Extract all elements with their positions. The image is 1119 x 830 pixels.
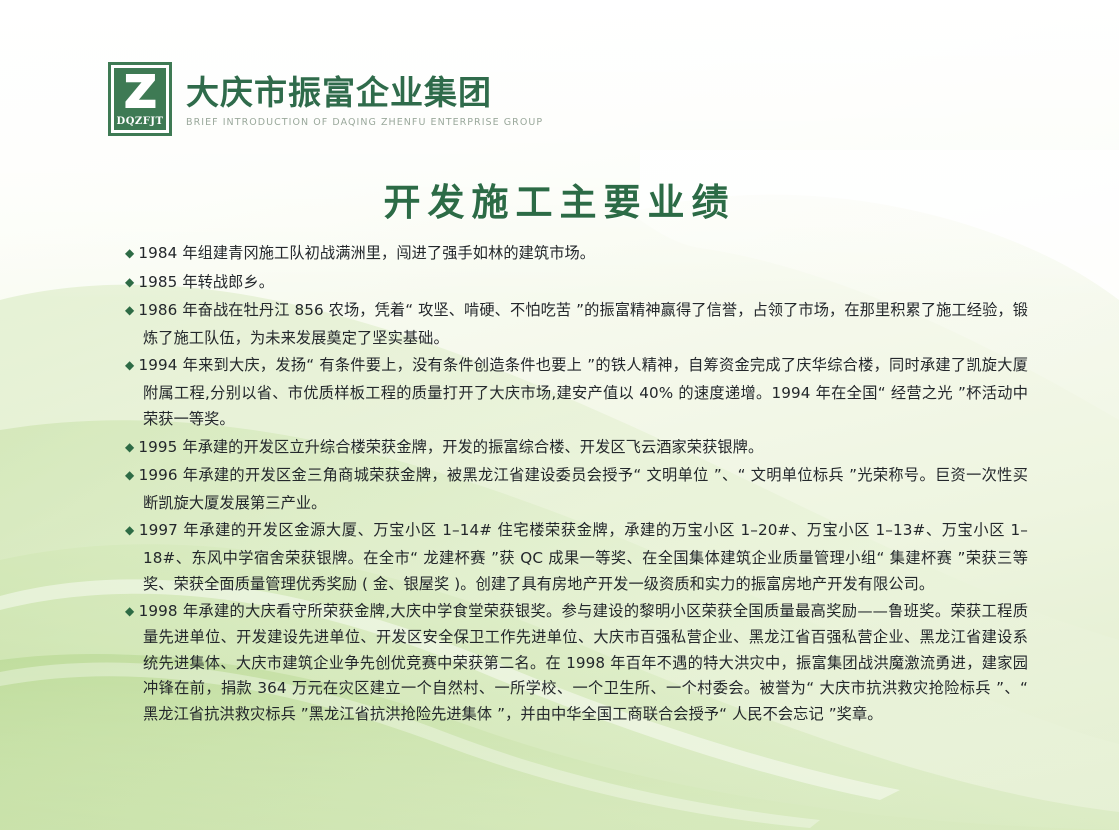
paragraph-1994: ◆1994 年来到大庆，发扬“ 有条件要上，没有条件创造条件也要上 ”的铁人精神…	[103, 352, 1028, 433]
paragraph-text: 1985 年转战郎乡。	[138, 273, 274, 291]
logo-abbreviation: DQZFJT	[117, 116, 164, 127]
diamond-bullet-icon: ◆	[125, 246, 134, 260]
body-content: ◆1984 年组建青冈施工队初战满洲里，闯进了强手如林的建筑市场。 ◆1985 …	[103, 240, 1028, 728]
paragraph-1997: ◆1997 年承建的开发区金源大厦、万宝小区 1–14# 住宅楼荣获金牌，承建的…	[103, 517, 1028, 598]
paragraph-1986: ◆1986 年奋战在牡丹江 856 农场，凭着“ 攻坚、啃硬、不怕吃苦 ”的振富…	[103, 297, 1028, 351]
paragraph-text: 1995 年承建的开发区立升综合楼荣获金牌，开发的振富综合楼、开发区飞云酒家荣获…	[138, 438, 763, 456]
diamond-bullet-icon: ◆	[125, 468, 135, 482]
paragraph-1985: ◆1985 年转战郎乡。	[103, 269, 1028, 297]
diamond-bullet-icon: ◆	[125, 440, 134, 454]
page-title: 开发施工主要业绩	[0, 172, 1119, 226]
paragraph-1998: ◆1998 年承建的大庆看守所荣获金牌,大庆中学食堂荣获银奖。参与建设的黎明小区…	[103, 599, 1028, 728]
slide-page: Z DQZFJT 大庆市振富企业集团 BRIEF INTRODUCTION OF…	[0, 0, 1119, 830]
brand-name-chinese: 大庆市振富企业集团	[186, 74, 543, 112]
paragraph-1996: ◆1996 年承建的开发区金三角商城荣获金牌，被黑龙江省建设委员会授予“ 文明单…	[103, 462, 1028, 516]
paragraph-text: 1986 年奋战在牡丹江 856 农场，凭着“ 攻坚、啃硬、不怕吃苦 ”的振富精…	[138, 301, 1028, 347]
brand-text-block: 大庆市振富企业集团 BRIEF INTRODUCTION OF DAQING Z…	[186, 62, 543, 128]
paragraph-text: 1994 年来到大庆，发扬“ 有条件要上，没有条件创造条件也要上 ”的铁人精神，…	[139, 356, 1029, 428]
paragraph-1984: ◆1984 年组建青冈施工队初战满洲里，闯进了强手如林的建筑市场。	[103, 240, 1028, 268]
paragraph-text: 1996 年承建的开发区金三角商城荣获金牌，被黑龙江省建设委员会授予“ 文明单位…	[139, 466, 1028, 512]
diamond-bullet-icon: ◆	[125, 275, 134, 289]
paragraph-text: 1984 年组建青冈施工队初战满洲里，闯进了强手如林的建筑市场。	[138, 244, 595, 262]
paragraph-1995: ◆1995 年承建的开发区立升综合楼荣获金牌，开发的振富综合楼、开发区飞云酒家荣…	[103, 434, 1028, 462]
brand-name-english: BRIEF INTRODUCTION OF DAQING ZHENFU ENTE…	[186, 117, 543, 128]
diamond-bullet-icon: ◆	[125, 303, 134, 317]
brand-header: Z DQZFJT 大庆市振富企业集团 BRIEF INTRODUCTION OF…	[108, 62, 543, 136]
logo-letter: Z	[125, 71, 156, 115]
diamond-bullet-icon: ◆	[125, 358, 135, 372]
paragraph-text: 1997 年承建的开发区金源大厦、万宝小区 1–14# 住宅楼荣获金牌，承建的万…	[139, 521, 1028, 593]
company-logo-icon: Z DQZFJT	[108, 62, 172, 136]
diamond-bullet-icon: ◆	[125, 523, 135, 537]
diamond-bullet-icon: ◆	[125, 604, 135, 618]
paragraph-text: 1998 年承建的大庆看守所荣获金牌,大庆中学食堂荣获银奖。参与建设的黎明小区荣…	[139, 602, 1028, 723]
